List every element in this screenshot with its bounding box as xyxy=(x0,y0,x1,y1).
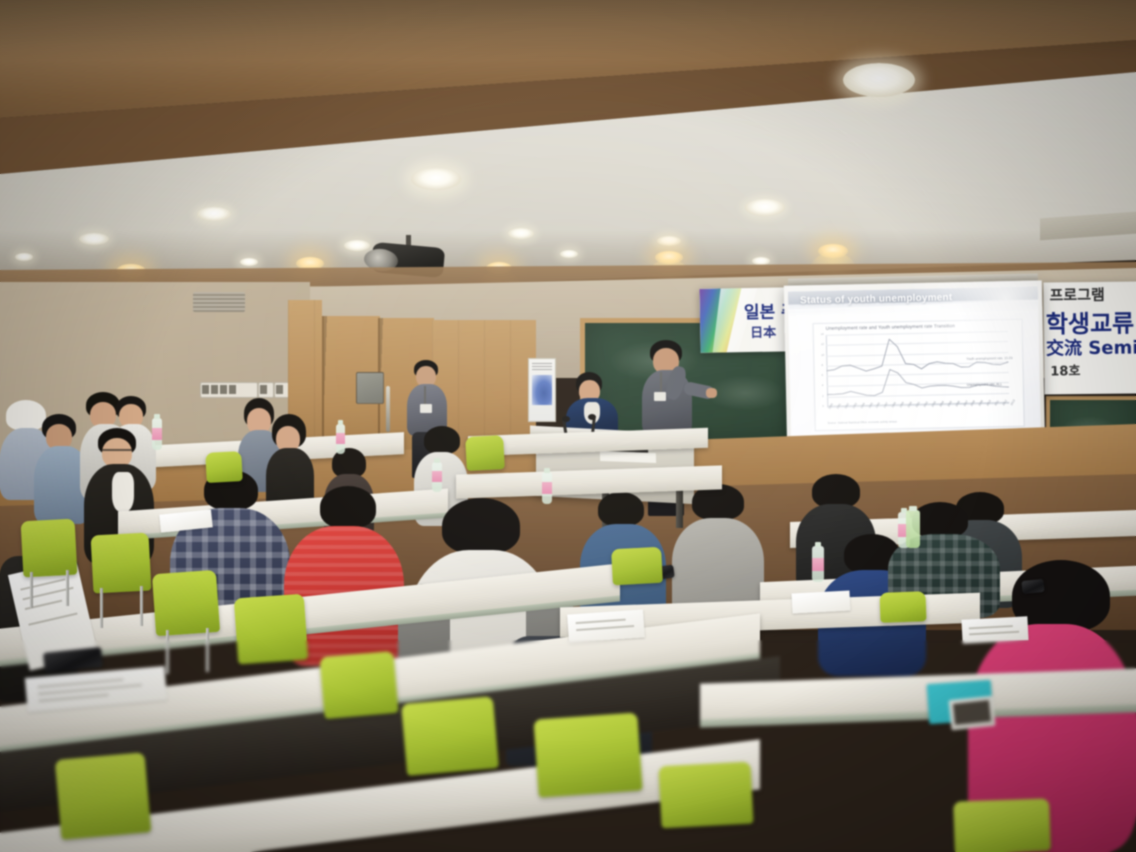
chair-leg xyxy=(166,630,169,674)
microphone-head-icon xyxy=(562,416,570,422)
wall-vent xyxy=(193,292,245,312)
handout-paper[interactable] xyxy=(792,590,851,613)
ceiling-light-icon xyxy=(240,258,258,266)
water-bottle[interactable] xyxy=(336,424,345,454)
chart-y-tick-label: 6 xyxy=(822,374,824,377)
chair[interactable] xyxy=(401,696,499,776)
lecture-hall-photo: 일본 쥬오 日本 프로그램 학생교류 交流 Semi 18호 Status of… xyxy=(0,0,1136,852)
banner-right-line3: 交流 Semi xyxy=(1046,334,1136,361)
door-handle-icon[interactable] xyxy=(386,386,390,432)
chart-y-tick-label: 10 xyxy=(821,353,824,356)
chart-series-lines xyxy=(826,331,1009,407)
chair[interactable] xyxy=(533,712,642,797)
chair[interactable] xyxy=(152,570,220,636)
ceiling-light-icon xyxy=(508,228,534,239)
chart-y-tick-label: 14 xyxy=(821,333,824,336)
door-window xyxy=(356,372,384,404)
chair-leg xyxy=(100,588,103,628)
audience-hair xyxy=(320,486,376,528)
speaker-name-badge xyxy=(654,392,666,401)
chair[interactable] xyxy=(658,762,753,829)
chart-plot-area: 02468101214 xyxy=(826,331,1009,407)
banner-right-line4: 18호 xyxy=(1050,360,1080,379)
chair[interactable] xyxy=(55,752,152,840)
audience-hair xyxy=(442,498,520,554)
water-bottle[interactable] xyxy=(812,546,824,582)
ceiling-light-icon xyxy=(752,257,770,265)
chart-x-tick-label: 2013 xyxy=(1009,399,1016,406)
chair[interactable] xyxy=(91,533,152,594)
speaker-lanyard xyxy=(660,372,662,394)
ceiling-light-icon xyxy=(745,199,785,216)
banner-left-line2: 日本 xyxy=(750,322,776,341)
chart-y-tick-label: 2 xyxy=(822,395,824,398)
audience-hair xyxy=(912,502,968,538)
ceiling-light-icon xyxy=(411,168,461,190)
audience-hair xyxy=(424,426,460,454)
chair-leg xyxy=(206,628,209,672)
handout-paper[interactable] xyxy=(567,609,645,642)
light-switch-panel[interactable] xyxy=(258,382,274,398)
banner-right: 프로그램 학생교류 交流 Semi 18호 xyxy=(1043,282,1136,395)
chair-leg xyxy=(30,572,33,608)
chart-x-tick-label: 1990 xyxy=(827,402,834,409)
chair-leg xyxy=(140,586,143,626)
audience-hair xyxy=(812,474,860,508)
chair[interactable] xyxy=(465,435,505,471)
papers-on-podium xyxy=(600,451,656,463)
ceiling-light-icon xyxy=(79,233,109,245)
ceiling-light-icon xyxy=(560,250,578,258)
chart-y-tick-label: 0 xyxy=(822,405,824,408)
chair[interactable] xyxy=(953,798,1051,852)
staff-lanyard xyxy=(424,386,426,406)
tablet-device[interactable] xyxy=(949,696,996,730)
warm-ceiling-light-icon xyxy=(655,251,683,264)
staff-name-badge xyxy=(420,404,432,413)
ceiling-light-icon xyxy=(843,63,915,97)
chart-source-note: Source : National Statistical Office, ec… xyxy=(828,420,897,424)
chart-line-youth-unemployment-rate xyxy=(826,337,1009,372)
slide-chart: Unemployment rate and Youth unemployment… xyxy=(813,319,1025,431)
handout-paper[interactable] xyxy=(961,616,1028,643)
chair-leg xyxy=(66,570,69,606)
smartphone[interactable] xyxy=(1021,579,1044,594)
chart-title: Unemployment rate and Youth unemployment… xyxy=(826,323,955,331)
water-bottle[interactable] xyxy=(906,510,920,548)
audience-hair xyxy=(598,492,644,526)
audience-blouse xyxy=(112,472,134,512)
chart-legend-all: Unemployment rate, ALL xyxy=(967,382,1023,387)
chair[interactable] xyxy=(21,519,78,578)
wall-poster xyxy=(528,358,556,422)
water-bottle[interactable] xyxy=(152,418,162,450)
ceiling-light-icon xyxy=(197,207,231,221)
chart-y-tick-label: 4 xyxy=(822,384,824,387)
ceiling-light-icon xyxy=(15,253,33,261)
chair[interactable] xyxy=(879,591,926,623)
chart-y-tick-label: 12 xyxy=(821,343,824,346)
chair[interactable] xyxy=(319,651,398,719)
chart-y-tick-label: 8 xyxy=(821,364,823,367)
water-bottle[interactable] xyxy=(432,462,442,492)
speaker-hand xyxy=(706,388,717,398)
chart-legend-youth: Youth unemployment rate, 15-29 xyxy=(966,356,1022,361)
chart-x-tick-labels: 1990199119921993199419951996199719981999… xyxy=(827,404,1009,422)
water-bottle[interactable] xyxy=(542,472,552,504)
banner-right-line1: 프로그램 xyxy=(1049,284,1104,306)
glasses-icon xyxy=(102,449,132,457)
microphone-head-icon xyxy=(588,414,596,420)
chair[interactable] xyxy=(611,547,663,586)
chair[interactable] xyxy=(234,594,308,665)
ceiling-light-icon xyxy=(657,236,681,246)
warm-ceiling-light-icon xyxy=(818,244,848,258)
chair[interactable] xyxy=(205,451,243,483)
light-switch-panel[interactable] xyxy=(200,382,258,398)
